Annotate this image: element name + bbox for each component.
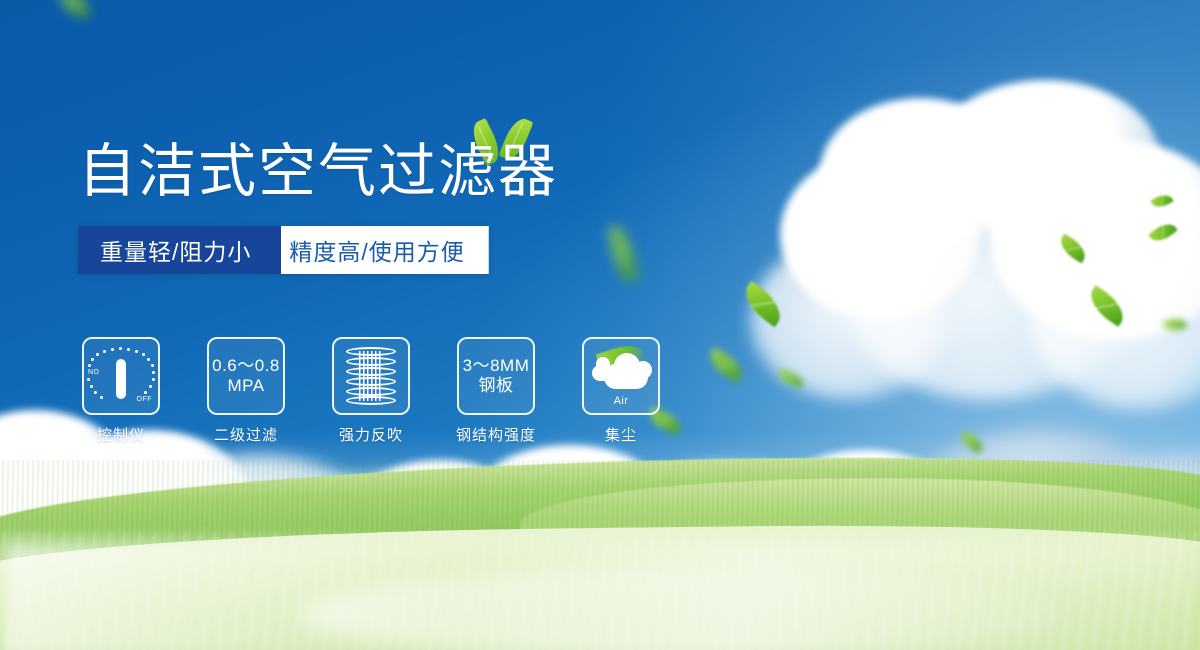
feature-label: 强力反吹 [339,424,403,445]
steel-thickness: 3～8MM [463,356,530,376]
page-title: 自洁式空气过滤器 [78,136,798,208]
headline-block: 自洁式空气过滤器 重量轻/阻力小 精度高/使用方便 [78,136,798,274]
feature-item-dust-collection[interactable]: Air 集尘 [582,337,660,445]
leaf-icon [1162,315,1187,335]
leaf-icon [777,369,805,388]
air-label: Air [590,395,652,407]
feature-icon-box: NO OFF [82,337,160,415]
feature-label: 控制仪 [97,424,145,445]
leaf-icon [1150,191,1173,211]
leaf-icon [737,281,788,327]
feature-label: 集尘 [605,424,637,445]
feature-icon-box: Air [582,337,660,415]
steel-material: 钢板 [463,376,530,396]
pressure-text-icon: 0.6～0.8 MPA [212,356,280,395]
air-cloud-icon: Air [590,347,652,405]
feature-item-controller[interactable]: NO OFF 控制仪 [82,337,160,445]
feature-list: NO OFF 控制仪 0.6～0.8 MPA 二级过滤 [82,337,660,445]
feature-item-reverse-blow[interactable]: 强力反吹 [332,337,410,445]
leaf-icon [705,347,748,382]
leaf-icon [1056,234,1090,264]
feature-icon-box [332,337,410,415]
product-banner: 自洁式空气过滤器 重量轻/阻力小 精度高/使用方便 [0,0,1200,650]
cloud-right [780,80,1200,410]
leaf-icon [1148,218,1178,246]
tagline-left: 重量轻/阻力小 [78,226,281,274]
leaf-icon [1083,285,1130,327]
gauge-no-label: NO [88,369,100,376]
feature-item-steel-strength[interactable]: 3～8MM 钢板 钢结构强度 [457,337,535,445]
tagline-right: 精度高/使用方便 [259,226,488,274]
pressure-range: 0.6～0.8 [212,356,280,376]
steel-plate-text-icon: 3～8MM 钢板 [463,356,530,395]
gauge-icon: NO OFF [88,345,154,407]
feature-item-filtration[interactable]: 0.6～0.8 MPA 二级过滤 [207,337,285,445]
tagline-badge: 重量轻/阻力小 精度高/使用方便 [78,226,489,274]
grass-streaks [0,532,1200,650]
coil-spring-icon [346,347,396,405]
gauge-needle [116,359,126,399]
pressure-unit: MPA [212,376,280,396]
feature-label: 钢结构强度 [456,424,536,445]
feature-icon-box: 3～8MM 钢板 [457,337,535,415]
feature-label: 二级过滤 [214,424,278,445]
leaf-icon [56,0,95,19]
feature-icon-box: 0.6～0.8 MPA [207,337,285,415]
gauge-off-label: OFF [137,396,153,403]
grass-field [0,420,1200,650]
